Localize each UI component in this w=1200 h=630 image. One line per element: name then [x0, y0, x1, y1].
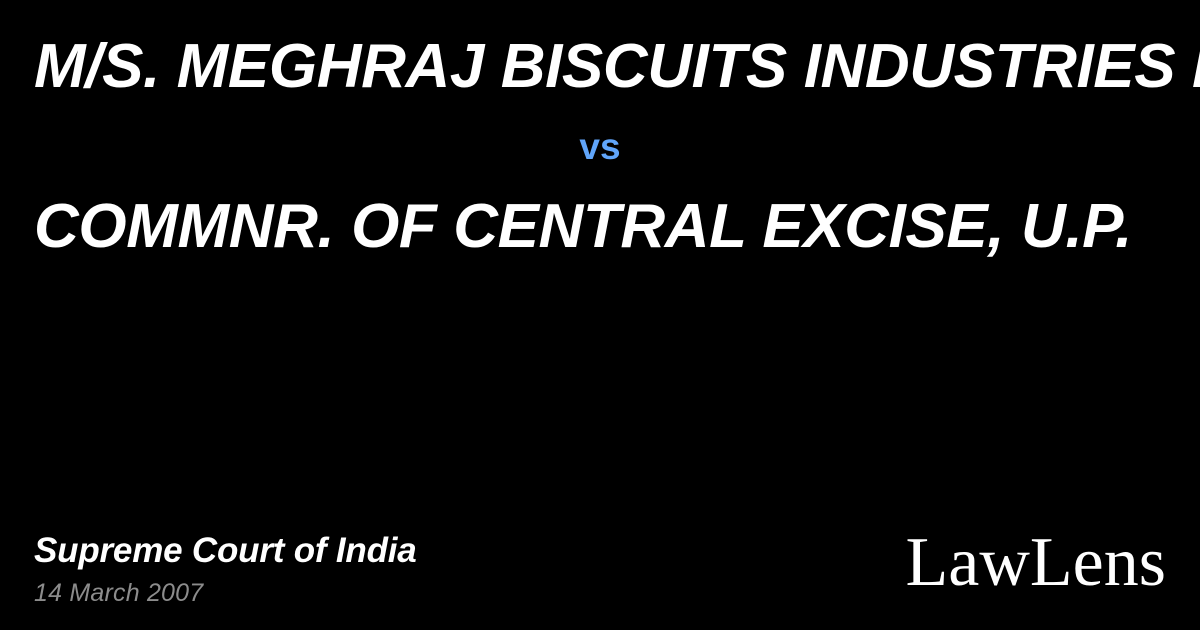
case-title-block: M/S. MEGHRAJ BISCUITS INDUSTRIES LTD. vs… — [0, 0, 1200, 258]
brand-area: LawLens — [906, 528, 1166, 630]
card-footer: Supreme Court of India 14 March 2007 Law… — [0, 480, 1200, 630]
versus-separator: vs — [579, 128, 620, 165]
respondent-name: COMMNR. OF CENTRAL EXCISE, U.P. — [34, 196, 1166, 258]
judgment-date: 14 March 2007 — [34, 581, 203, 606]
court-info: Supreme Court of India 14 March 2007 — [34, 532, 417, 630]
versus-row: vs — [34, 128, 1166, 165]
lawlens-logo: LawLens — [906, 528, 1166, 598]
petitioner-name: M/S. MEGHRAJ BISCUITS INDUSTRIES LTD. — [34, 36, 1166, 98]
case-summary-card: M/S. MEGHRAJ BISCUITS INDUSTRIES LTD. vs… — [0, 0, 1200, 630]
court-name: Supreme Court of India — [34, 532, 417, 570]
